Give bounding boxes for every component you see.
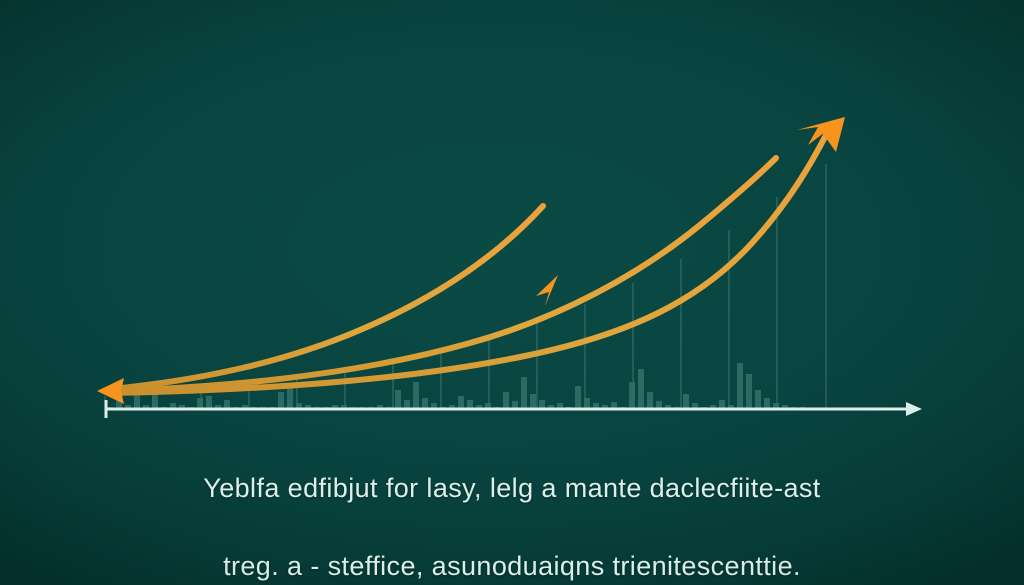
bar — [413, 382, 419, 409]
bar — [746, 374, 752, 409]
bar — [206, 396, 212, 409]
shallow-growth-curve — [112, 158, 776, 391]
bar — [458, 396, 464, 409]
bar — [422, 398, 428, 409]
bar — [647, 392, 653, 409]
bar — [575, 386, 581, 409]
bar — [503, 392, 509, 409]
figure-canvas: Yeblfa edfibjut for lasy, lelg a mante d… — [0, 0, 1024, 585]
bar — [638, 369, 644, 409]
figure-caption: Yeblfa edfibjut for lasy, lelg a mante d… — [0, 430, 1024, 585]
bar — [530, 394, 536, 409]
left-arrowhead — [97, 378, 124, 404]
caption-line-1: Yeblfa edfibjut for lasy, lelg a mante d… — [0, 469, 1024, 508]
bar — [764, 398, 770, 409]
bar — [278, 392, 284, 409]
bar — [737, 363, 743, 409]
bar — [629, 382, 635, 409]
bar — [395, 390, 401, 409]
primary-growth-curve — [112, 135, 826, 393]
bar — [197, 398, 203, 409]
bar — [683, 394, 689, 409]
mid-curve-arrowhead — [536, 275, 558, 306]
bar — [521, 377, 527, 409]
bar — [584, 398, 590, 409]
caption-line-2: treg. a - steffice, asunoduaiqns trienit… — [0, 547, 1024, 585]
bar — [755, 390, 761, 409]
bar — [287, 386, 293, 409]
